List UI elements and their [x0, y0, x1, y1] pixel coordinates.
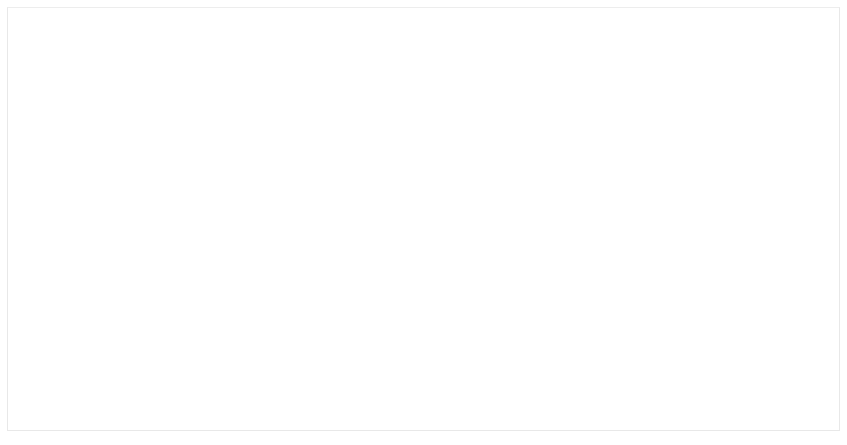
report-code-footer: Report Code: A47440, www.alliedmarketres… [437, 411, 826, 423]
cagr-prefix: Growing at a [36, 324, 122, 340]
climbing-gear-photo [437, 98, 826, 402]
market-size-prefix: Climbing gears market is expected to rea… [19, 247, 298, 263]
subtitle-line-1: OPPORTUNITIES AND [12, 105, 294, 124]
climbing-gears-market-infographic: CLIMBING GEARS MARKET OPPORTUNITIES AND … [0, 0, 847, 445]
market-size-statement: Climbing gears market is expected to rea… [18, 245, 298, 289]
subtitle-line-2: FORECAST, [12, 124, 294, 143]
market-size-value: $2.7 Billion [90, 269, 174, 286]
cagr-value: CAGR of 7.9% (2022-2031) [122, 323, 280, 363]
stat-divider [28, 310, 292, 311]
left-text-column: CLIMBING GEARS MARKET OPPORTUNITIES AND … [12, 7, 298, 430]
infographic-canvas: CLIMBING GEARS MARKET OPPORTUNITIES AND … [8, 7, 839, 430]
subtitle-line-3: 2021 - 2031 [12, 142, 294, 161]
allied-market-research-logo[interactable]: Allied Market Research [629, 15, 725, 69]
title-divider [24, 92, 273, 94]
report-subtitle: OPPORTUNITIES AND FORECAST, 2021 - 2031 [12, 105, 294, 161]
climbing-gear-illustration [437, 98, 826, 402]
title-line-secondary: MARKET [12, 48, 292, 75]
cagr-statement: Growing at a CAGR of 7.9% (2022-2031) [18, 320, 298, 366]
page-title: CLIMBING GEARS MARKET [12, 19, 292, 75]
logo-mark-icon: Allied Market Research [629, 15, 725, 69]
svg-text:Research: Research [674, 42, 725, 56]
market-size-suffix: in 2031 [174, 270, 226, 286]
title-line-primary: CLIMBING GEARS [12, 19, 292, 48]
